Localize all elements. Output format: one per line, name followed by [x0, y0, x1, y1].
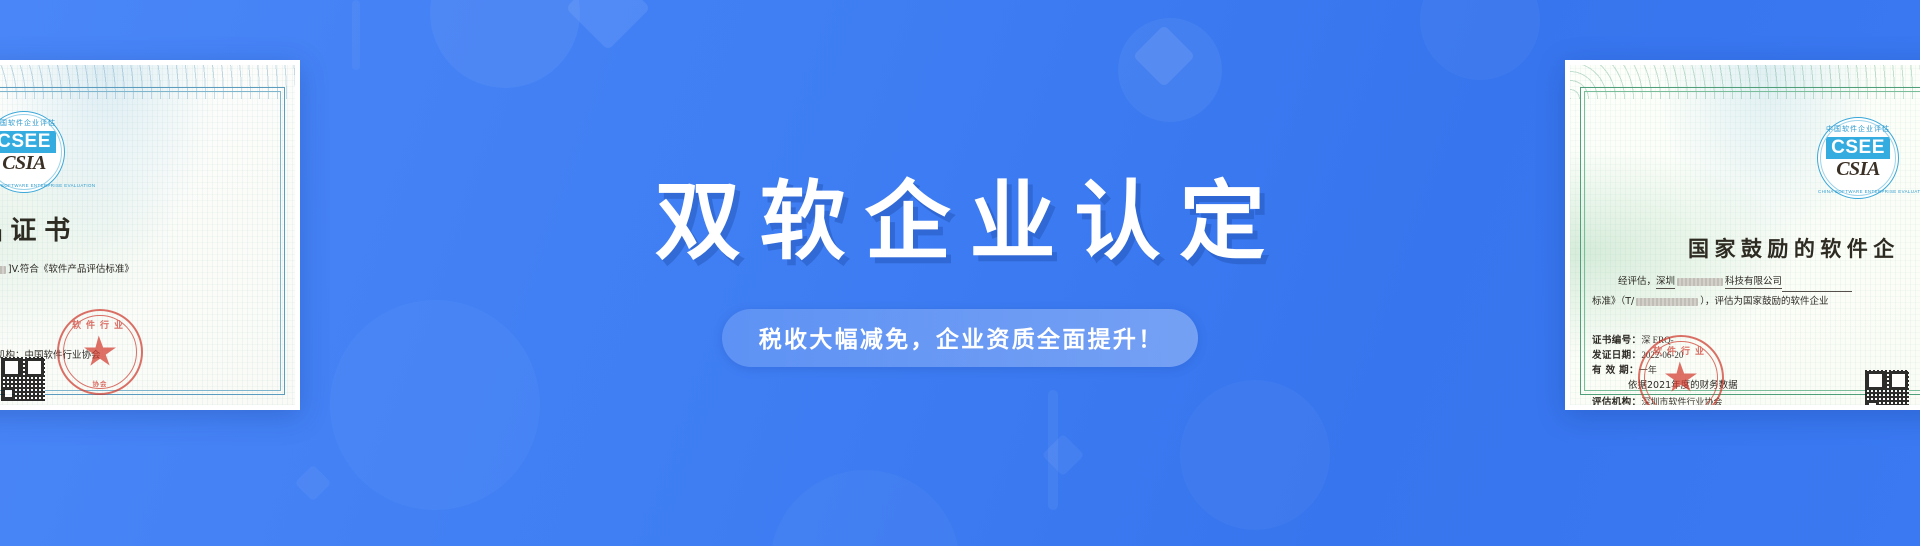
promo-banner: 中国软件企业评估 CSEE CSIA CHINA SOFTWARE ENTERP…	[0, 0, 1920, 546]
banner-content: 双软企业认定 税收大幅减免，企业资质全面提升！	[0, 0, 1920, 546]
page-title: 双软企业认定	[636, 179, 1284, 265]
tagline-badge: 税收大幅减免，企业资质全面提升！	[722, 309, 1197, 367]
